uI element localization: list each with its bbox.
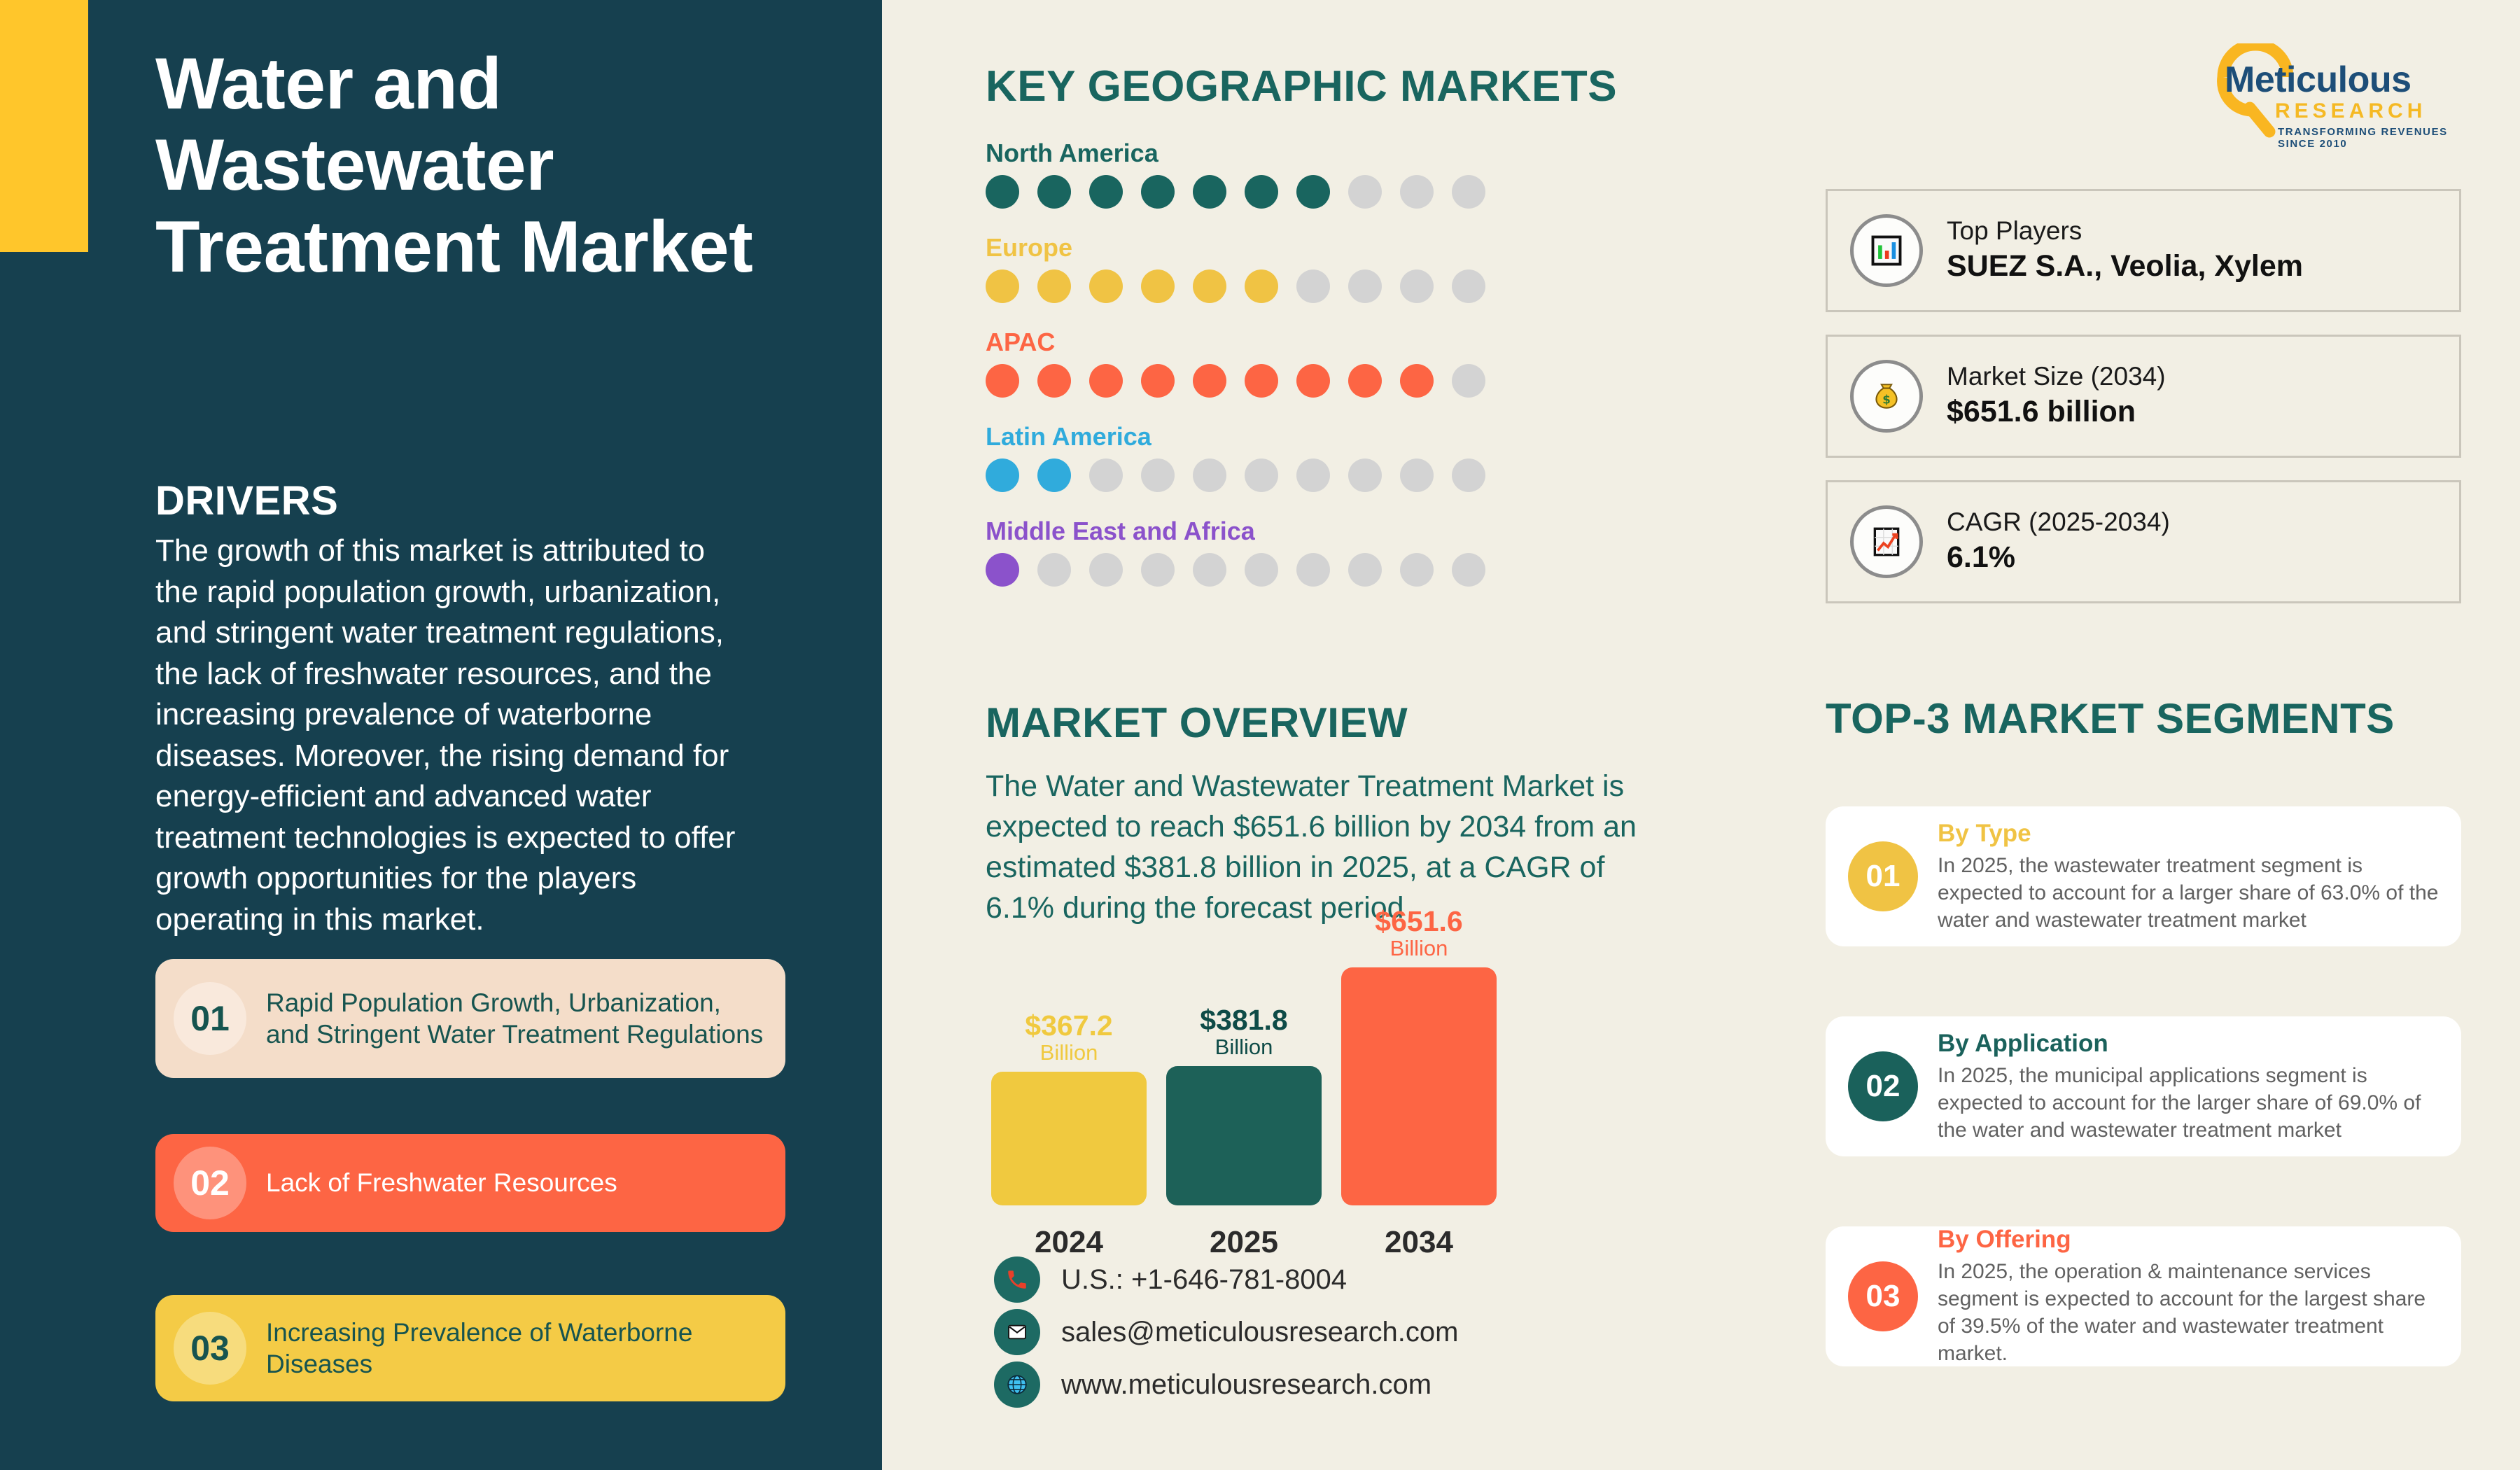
bar-column-2024: $367.2 Billion (991, 1011, 1147, 1205)
driver-number-badge: 01 (174, 982, 246, 1055)
segment-description: In 2025, the operation & maintenance ser… (1938, 1258, 2440, 1367)
info-card-value: SUEZ S.A., Veolia, Xylem (1947, 247, 2303, 286)
market-segments-title: TOP-3 MARKET SEGMENTS (1826, 694, 2395, 743)
geo-row-europe: Europe (986, 233, 1546, 303)
email-icon (994, 1309, 1040, 1355)
geo-dot (1245, 553, 1278, 587)
contact-email[interactable]: sales@meticulousresearch.com (994, 1309, 1458, 1355)
bar-column-2034: $651.6 Billion (1341, 907, 1497, 1205)
bar-chart-icon (1850, 214, 1923, 287)
geo-dot (1037, 269, 1071, 303)
geo-region-label: Latin America (986, 422, 1546, 451)
trend-up-icon (1850, 505, 1923, 578)
info-card-value: $651.6 billion (1947, 393, 2166, 432)
market-size-bar-chart: $367.2 Billion $381.8 Billion $651.6 Bil… (986, 938, 1602, 1260)
geo-dot (1452, 553, 1485, 587)
geo-dot (1245, 364, 1278, 398)
geo-dot (1193, 175, 1226, 209)
driver-card-3[interactable]: 03 Increasing Prevalence of Waterborne D… (155, 1295, 785, 1401)
geo-dot (1245, 269, 1278, 303)
bar-category-label: 2034 (1341, 1225, 1497, 1260)
logo-research-text: RESEARCH (2275, 99, 2426, 123)
geo-dot (1089, 269, 1123, 303)
geo-dot (1348, 269, 1382, 303)
geo-dot (1141, 458, 1175, 492)
logo-tagline: TRANSFORMING REVENUES SINCE 2010 (2278, 126, 2471, 150)
geo-region-label: Middle East and Africa (986, 517, 1546, 546)
driver-number-badge: 02 (174, 1147, 246, 1219)
geo-dot-scale (986, 175, 1546, 209)
segment-heading: By Type (1938, 820, 2440, 848)
info-card-top-players: Top Players SUEZ S.A., Veolia, Xylem (1826, 189, 2461, 312)
accent-bar (0, 0, 88, 252)
driver-card-2[interactable]: 02 Lack of Freshwater Resources (155, 1134, 785, 1232)
geo-dot (1400, 175, 1434, 209)
market-overview-body: The Water and Wastewater Treatment Marke… (986, 766, 1644, 928)
geo-dot (1193, 269, 1226, 303)
bar-unit-label: Billion (991, 1041, 1147, 1065)
geo-dot (1452, 458, 1485, 492)
geo-dot (1400, 458, 1434, 492)
geo-row-latin-america: Latin America (986, 422, 1546, 492)
geo-dot-scale (986, 364, 1546, 398)
geo-dot (1141, 269, 1175, 303)
geo-region-label: North America (986, 139, 1546, 168)
bar-rect (1341, 967, 1497, 1205)
geo-row-apac: APAC (986, 328, 1546, 398)
driver-card-1[interactable]: 01 Rapid Population Growth, Urbanization… (155, 959, 785, 1078)
geo-region-label: Europe (986, 233, 1546, 262)
geo-dot (1089, 458, 1123, 492)
drivers-body: The growth of this market is attributed … (155, 531, 743, 940)
geo-row-middle-east-africa: Middle East and Africa (986, 517, 1546, 587)
geo-dot (1037, 364, 1071, 398)
geo-dot (1452, 269, 1485, 303)
geo-dot (1452, 175, 1485, 209)
geo-dot (1141, 175, 1175, 209)
geo-dot (1141, 364, 1175, 398)
geo-dot (1089, 175, 1123, 209)
geo-dot (986, 175, 1019, 209)
bar-unit-label: Billion (1166, 1035, 1322, 1059)
geo-dot (986, 269, 1019, 303)
globe-icon (994, 1361, 1040, 1408)
info-card-label: CAGR (2025-2034) (1947, 506, 2170, 538)
geo-dot (1296, 364, 1330, 398)
geo-dot (1141, 553, 1175, 587)
geo-dot (1037, 175, 1071, 209)
geo-region-label: APAC (986, 328, 1546, 357)
geo-dot-scale (986, 458, 1546, 492)
info-card-value: 6.1% (1947, 538, 2170, 577)
geo-dot (1245, 458, 1278, 492)
contact-email-text: sales@meticulousresearch.com (1061, 1317, 1458, 1348)
geo-dot (1400, 364, 1434, 398)
driver-number-badge: 03 (174, 1312, 246, 1385)
geo-dot (1037, 553, 1071, 587)
contact-website-text: www.meticulousresearch.com (1061, 1369, 1431, 1401)
bar-unit-label: Billion (1341, 937, 1497, 960)
geo-dot (986, 553, 1019, 587)
geo-dot (1296, 175, 1330, 209)
segment-card-by-type[interactable]: 01 By Type In 2025, the wastewater treat… (1826, 806, 2461, 946)
page-title: Water and Wastewater Treatment Market (155, 43, 827, 288)
bar-value-label: $381.8 (1166, 1006, 1322, 1035)
money-bag-icon: $ (1850, 360, 1923, 433)
geo-dot (1089, 553, 1123, 587)
geo-dot (1193, 553, 1226, 587)
segment-card-by-application[interactable]: 02 By Application In 2025, the municipal… (1826, 1016, 2461, 1156)
phone-icon (994, 1256, 1040, 1303)
drivers-heading: DRIVERS (155, 477, 338, 524)
geo-row-north-america: North America (986, 139, 1546, 209)
geo-dot (1348, 364, 1382, 398)
segment-card-by-offering[interactable]: 03 By Offering In 2025, the operation & … (1826, 1226, 2461, 1366)
segment-description: In 2025, the wastewater treatment segmen… (1938, 852, 2440, 934)
geo-dot (1296, 553, 1330, 587)
geographic-markets-title: KEY GEOGRAPHIC MARKETS (986, 62, 1617, 111)
geo-dot (1037, 458, 1071, 492)
bar-column-2025: $381.8 Billion (1166, 1006, 1322, 1205)
segment-number-badge: 01 (1848, 841, 1918, 911)
geo-dot (1452, 364, 1485, 398)
bar-rect (1166, 1066, 1322, 1205)
logo-wordmark: Meticulous (2225, 59, 2411, 101)
segment-heading: By Offering (1938, 1226, 2440, 1254)
segment-number-badge: 02 (1848, 1051, 1918, 1121)
driver-label: Rapid Population Growth, Urbanization, a… (266, 987, 785, 1050)
segment-heading: By Application (1938, 1030, 2440, 1058)
geo-dot (1400, 553, 1434, 587)
geo-dot (1193, 458, 1226, 492)
segment-description: In 2025, the municipal applications segm… (1938, 1062, 2440, 1144)
info-card-label: Top Players (1947, 215, 2303, 247)
bar-category-label: 2025 (1166, 1225, 1322, 1260)
svg-text:$: $ (1882, 393, 1891, 406)
bar-category-label: 2024 (991, 1225, 1147, 1260)
info-card-market-size: $ Market Size (2034) $651.6 billion (1826, 335, 2461, 458)
driver-label: Increasing Prevalence of Waterborne Dise… (266, 1317, 785, 1380)
geo-dot (1193, 364, 1226, 398)
geo-dot (1400, 269, 1434, 303)
geo-dot-scale (986, 269, 1546, 303)
driver-label: Lack of Freshwater Resources (266, 1167, 636, 1198)
info-card-cagr: CAGR (2025-2034) 6.1% (1826, 480, 2461, 603)
bar-value-label: $651.6 (1341, 907, 1497, 937)
geo-dot (1348, 553, 1382, 587)
geo-dot-scale (986, 553, 1546, 587)
geo-dot (1245, 175, 1278, 209)
market-overview-title: MARKET OVERVIEW (986, 699, 1408, 747)
segment-number-badge: 03 (1848, 1261, 1918, 1331)
geo-dot (1348, 175, 1382, 209)
info-card-label: Market Size (2034) (1947, 360, 2166, 393)
geo-dot (986, 364, 1019, 398)
geo-dot (986, 458, 1019, 492)
geo-dot (1296, 458, 1330, 492)
bar-value-label: $367.2 (991, 1011, 1147, 1041)
geo-dot (1089, 364, 1123, 398)
meticulous-research-logo: Meticulous RESEARCH TRANSFORMING REVENUE… (2211, 43, 2471, 141)
geo-dot (1296, 269, 1330, 303)
contact-phone-text: U.S.: +1-646-781-8004 (1061, 1264, 1347, 1296)
geo-dot (1348, 458, 1382, 492)
contact-phone[interactable]: U.S.: +1-646-781-8004 (994, 1256, 1347, 1303)
bar-rect (991, 1072, 1147, 1205)
contact-website[interactable]: www.meticulousresearch.com (994, 1361, 1431, 1408)
